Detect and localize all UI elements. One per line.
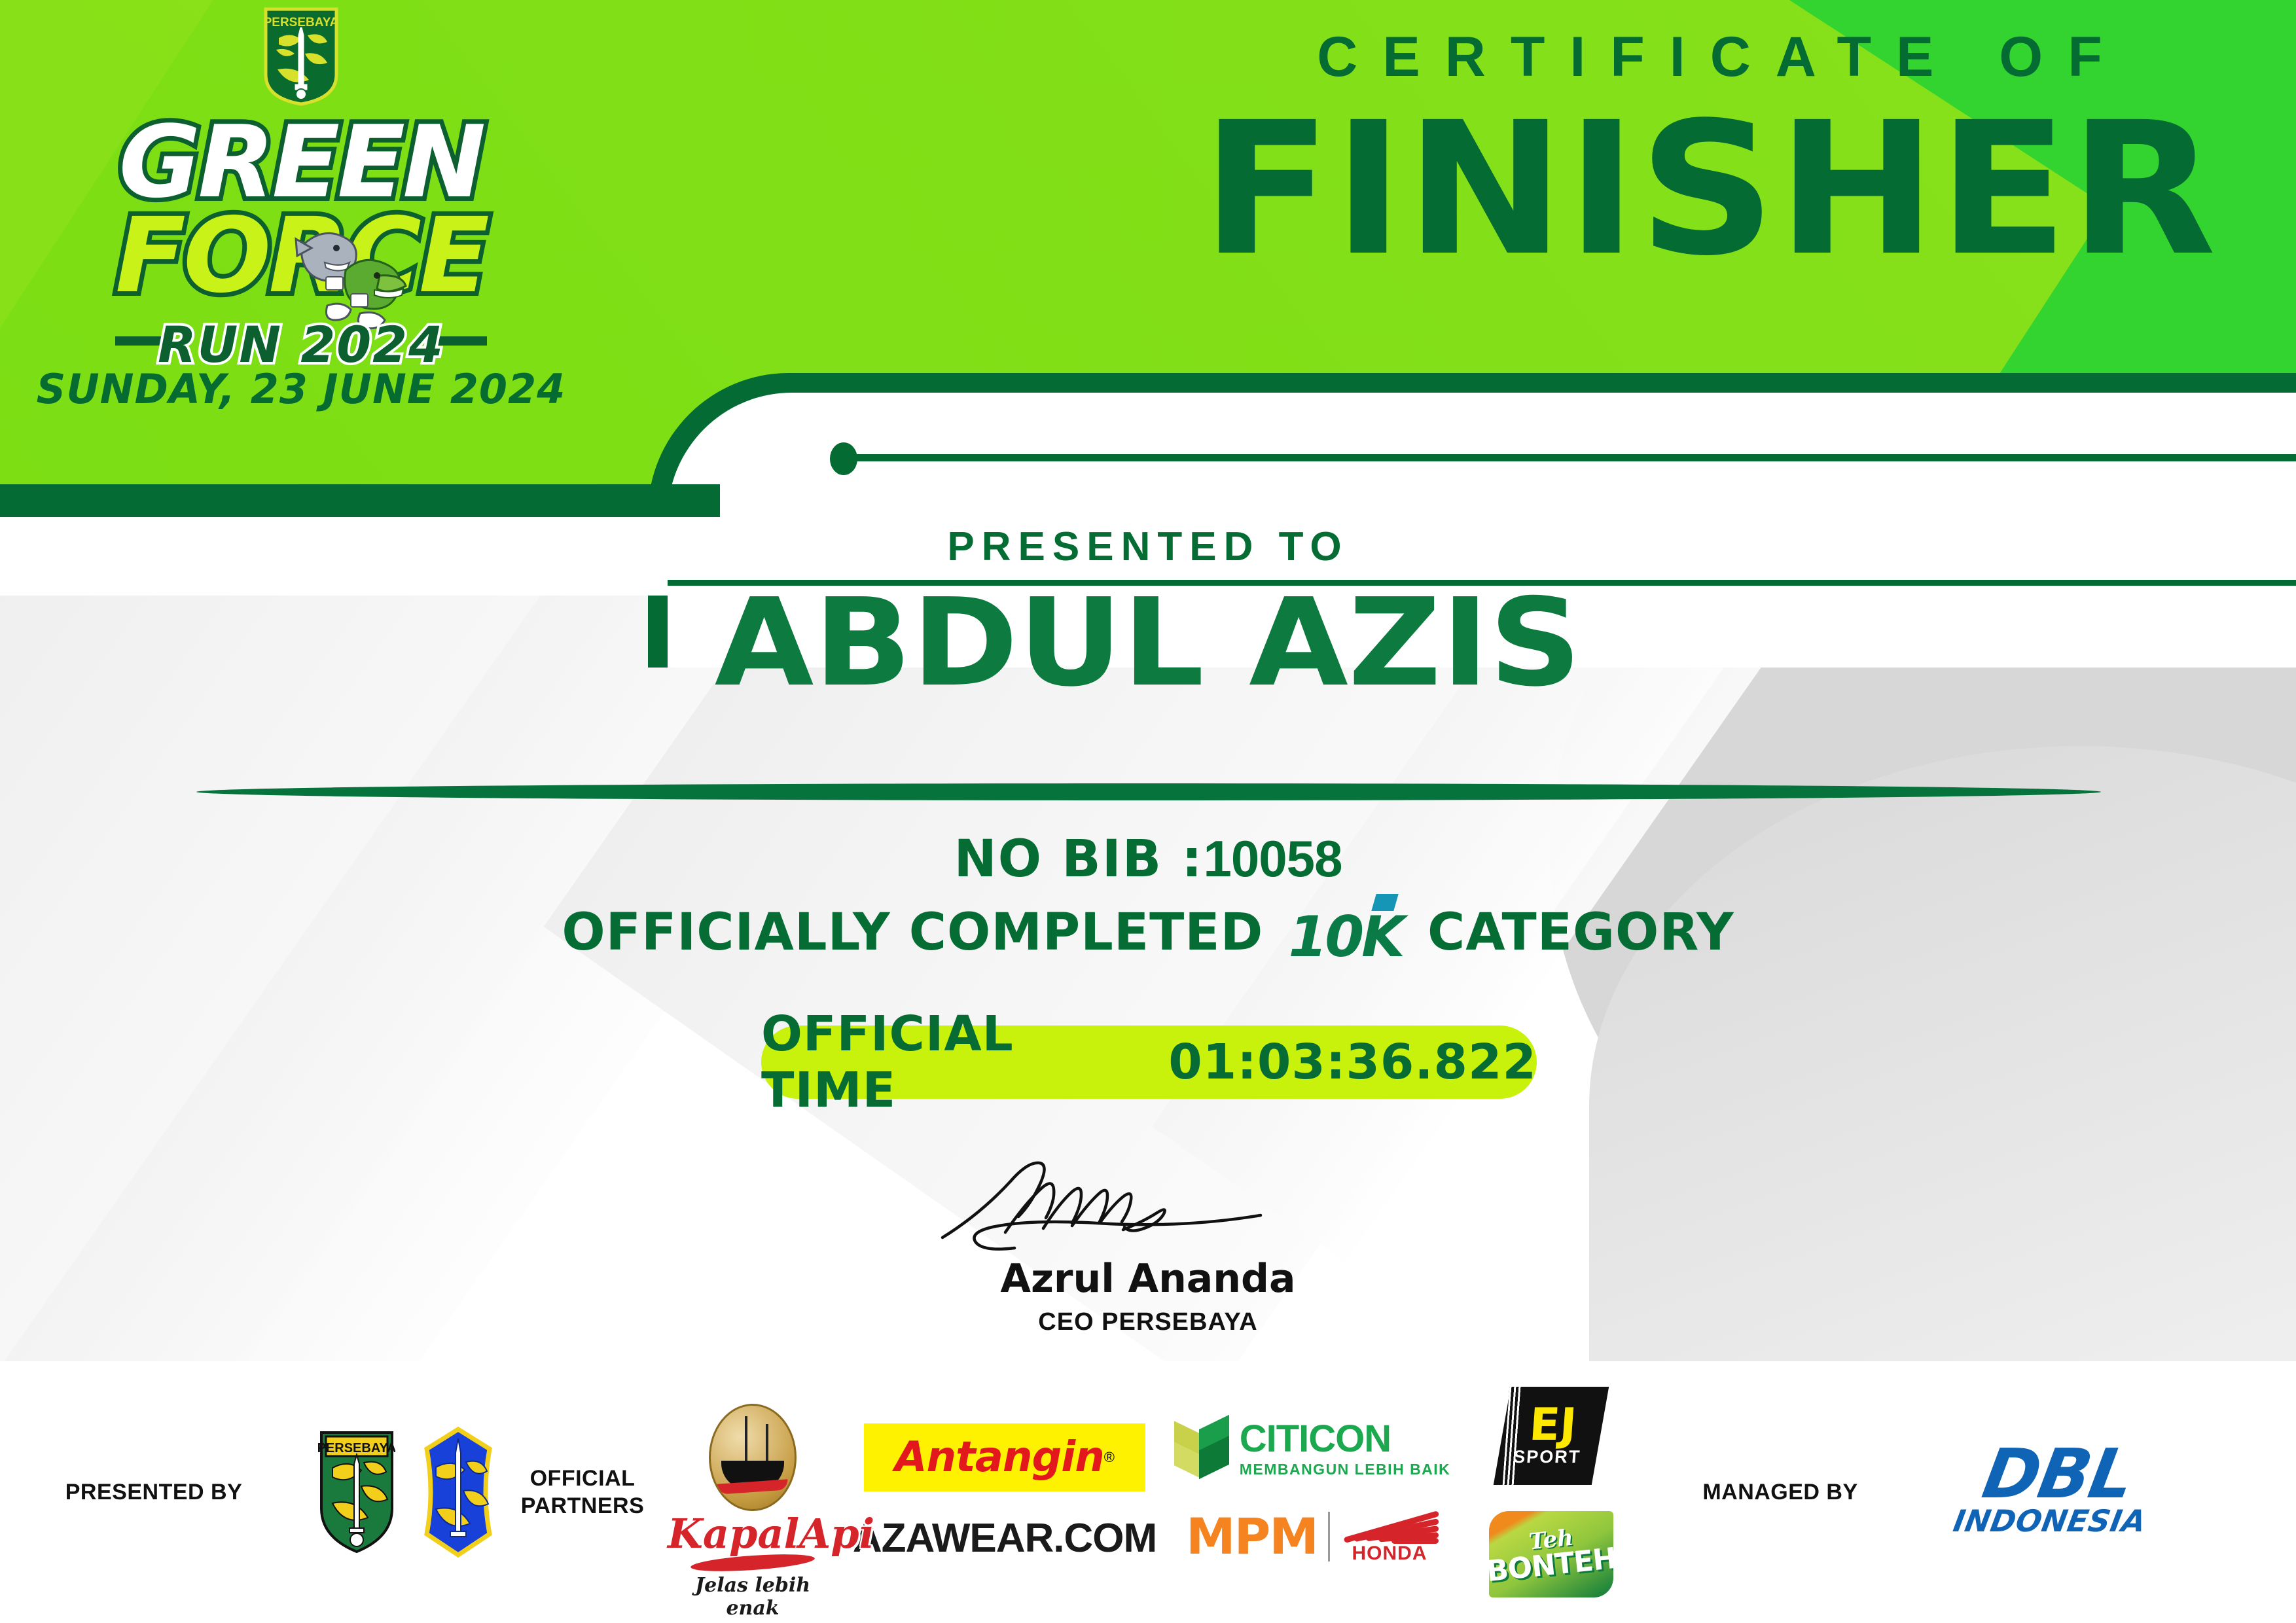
sponsor-kapal-api: KapalApi Jelas lebih enak	[655, 1404, 851, 1580]
bonteh-label: BONTEH	[1489, 1544, 1613, 1587]
ej-sport-label: SPORT	[1513, 1447, 1582, 1467]
teh-bonteh-logo-icon: Teh BONTEH	[1489, 1511, 1613, 1597]
kapal-api-tagline: Jelas lebih enak	[668, 1574, 838, 1620]
honda-wordmark: HONDA	[1340, 1543, 1439, 1565]
citicon-cube-icon	[1174, 1421, 1230, 1477]
certificate-title-block: CERTIFICATE OF FINISHER	[1147, 29, 2272, 275]
kapal-api-logo-icon: KapalApi Jelas lebih enak	[668, 1404, 838, 1580]
persebaya-crest-icon: PERSEBAYA	[262, 7, 340, 106]
presented-by-label: PRESENTED BY	[65, 1478, 243, 1507]
signatory-name: Azrul Ananda	[0, 1256, 2296, 1302]
presented-to-label: PRESENTED TO	[0, 524, 2296, 570]
presented-by-cell: PRESENTED BY	[0, 1478, 308, 1507]
signature-block: Azrul Ananda CEO PERSEBAYA	[0, 1155, 2296, 1336]
handwritten-signature-icon	[932, 1155, 1364, 1260]
bib-number: 10058	[1204, 830, 1342, 887]
ship-hull	[717, 1479, 789, 1494]
green-force-wordmark: GREEN FORCE	[72, 106, 530, 361]
kapal-api-ship-oval	[709, 1404, 797, 1511]
dbl-logo-icon: DBL INDONESIA	[1951, 1445, 2159, 1539]
surabaya-city-emblem-icon	[419, 1427, 497, 1558]
category-line: OFFICIALLY COMPLETED 10K CATEGORY	[0, 903, 2296, 970]
dbl-indonesia-label: INDONESIA	[1951, 1504, 2149, 1539]
mpm-honda-logo-icon: MPM HONDA	[1186, 1508, 1439, 1565]
completed-suffix: CATEGORY	[1427, 903, 1734, 962]
honda-wing-icon	[1340, 1508, 1439, 1545]
ship-mast-1	[745, 1416, 747, 1463]
mpm-wordmark: MPM	[1186, 1512, 1318, 1561]
event-logo-block: PERSEBAYA GREEN FORCE	[39, 7, 563, 465]
wing-feather-5	[1391, 1538, 1439, 1544]
persebaya-logo-icon: PERSEBAYA	[318, 1430, 395, 1554]
managed-by-label: MANAGED BY	[1702, 1478, 1857, 1507]
signatory-role: CEO PERSEBAYA	[0, 1308, 2296, 1336]
azawear-wordmark: AZAWEAR.COM	[853, 1515, 1157, 1561]
citicon-wordmark: CITICON	[1240, 1420, 1451, 1458]
ej-sport-logo-icon: EJ SPORT	[1494, 1387, 1609, 1485]
stem-line	[853, 454, 2296, 461]
kapal-api-wordmark: KapalApi	[668, 1514, 838, 1554]
dbl-wordmark: DBL	[1957, 1445, 2159, 1503]
title-finisher: FINISHER	[1124, 106, 2295, 275]
ship-mast-2	[766, 1424, 768, 1461]
citicon-text-block: CITICON MEMBANGUN LEBIH BAIK	[1240, 1420, 1451, 1478]
header-notch-tail	[0, 484, 720, 517]
official-partners-label: OFFICIAL PARTNERS	[521, 1465, 645, 1520]
ej-stripes	[1503, 1387, 1523, 1485]
antangin-registered-icon: ®	[1104, 1449, 1115, 1466]
logo-text-run-year: RUN 2024	[72, 315, 530, 374]
sponsor-antangin-azawear: Antangin® AZAWEAR.COM	[851, 1423, 1158, 1561]
official-partners-cell: OFFICIAL PARTNERS	[511, 1465, 655, 1520]
sponsor-dbl-indonesia: DBL INDONESIA	[1924, 1445, 2186, 1539]
title-certificate-of: CERTIFICATE OF	[1147, 29, 2296, 85]
sponsor-citicon-mpm: CITICON MEMBANGUN LEBIH BAIK MPM HONDA	[1158, 1420, 1466, 1565]
mpm-divider	[1328, 1512, 1330, 1561]
honda-block: HONDA	[1340, 1508, 1439, 1565]
category-badge-10k: 10K	[1289, 904, 1403, 970]
official-time-value: 01:03:36.822	[1168, 1034, 1537, 1090]
antangin-logo-icon: Antangin®	[864, 1423, 1145, 1491]
citicon-logo-icon: CITICON MEMBANGUN LEBIH BAIK	[1174, 1420, 1451, 1478]
managed-by-cell: MANAGED BY	[1636, 1478, 1924, 1507]
sponsor-persebaya: PERSEBAYA	[308, 1430, 406, 1554]
antangin-wordmark: Antangin	[895, 1433, 1104, 1482]
official-time-label: OFFICIAL TIME	[761, 1006, 1166, 1118]
category-badge-text: 10K	[1289, 904, 1403, 970]
sponsor-surabaya	[406, 1427, 511, 1558]
completed-prefix: OFFICIALLY COMPLETED	[562, 903, 1263, 962]
recipient-name: ABDUL AZIS	[0, 582, 2296, 704]
category-badge-tick-icon	[1371, 894, 1398, 911]
citicon-tagline: MEMBANGUN LEBIH BAIK	[1240, 1461, 1451, 1478]
bib-label: NO BIB :	[954, 830, 1204, 889]
name-divider	[196, 783, 2101, 800]
bib-line: NO BIB :10058	[0, 829, 2296, 889]
sponsor-ej-bonteh: EJ SPORT Teh BONTEH	[1466, 1387, 1636, 1597]
certificate-root: PERSEBAYA GREEN FORCE	[0, 0, 2296, 1623]
ej-wordmark: EJ	[1528, 1404, 1578, 1447]
sponsor-footer: PRESENTED BY PERSEBAYA	[0, 1361, 2296, 1623]
official-time-badge: OFFICIAL TIME 01:03:36.822	[761, 1026, 1537, 1099]
